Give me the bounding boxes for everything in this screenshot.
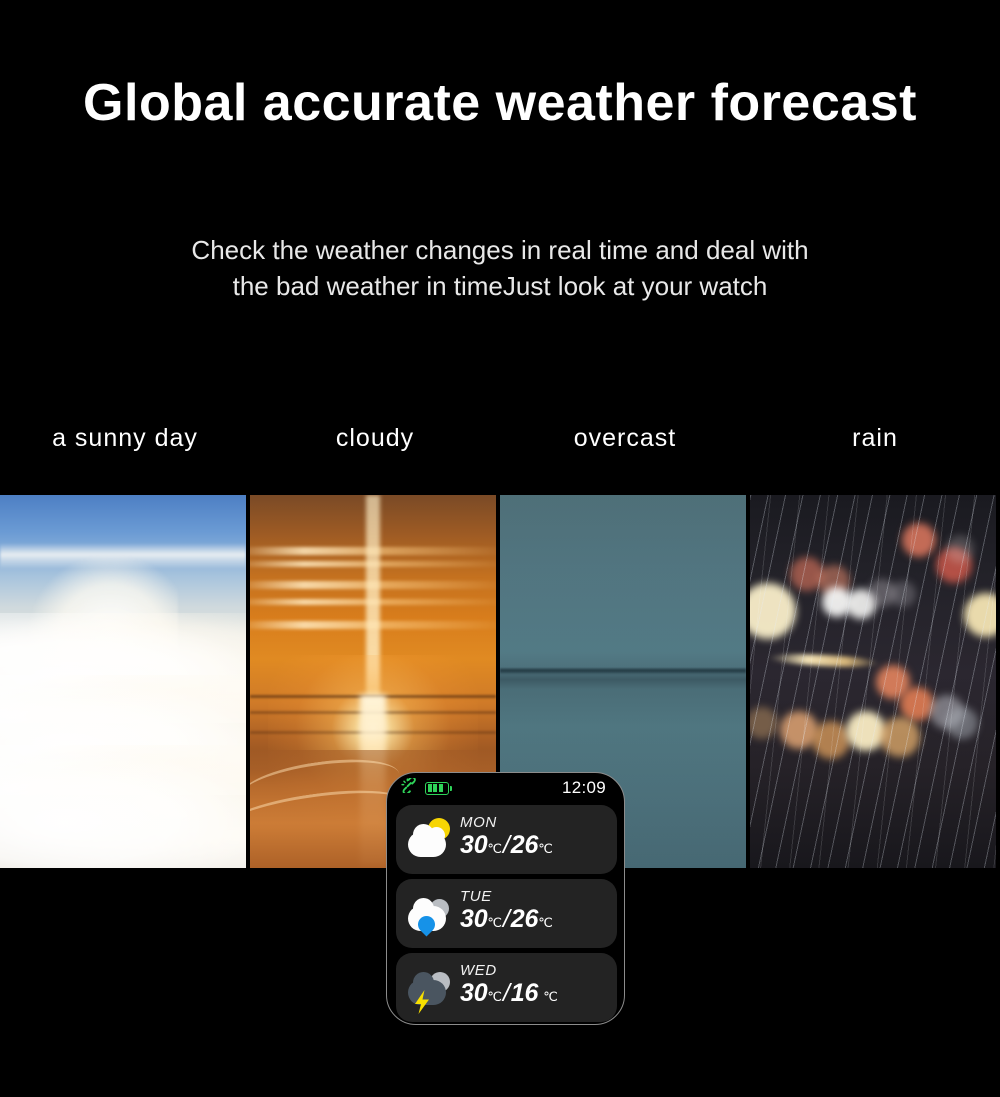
broken-link-icon [401,778,418,798]
temp-high: 30 [460,831,487,859]
page-title: Global accurate weather forecast [0,72,1000,134]
temp-separator: / [502,831,511,859]
forecast-card-list: MON 30℃/26℃ TUE 30℃/26℃ [396,805,617,1025]
weather-photo-rain [750,495,996,868]
forecast-day-label: WED [460,962,558,979]
temp-high-unit: ℃ [487,915,502,930]
weather-label-rain: rain [750,418,1000,458]
temp-low-unit: ℃ [538,841,553,856]
forecast-temperature: 30℃/26℃ [460,905,553,937]
forecast-card-tue[interactable]: TUE 30℃/26℃ [396,879,617,948]
watch-status-bar: 12:09 [387,773,624,803]
weather-category-labels: a sunny day cloudy overcast rain [0,418,1000,458]
page-subtitle: Check the weather changes in real time a… [0,232,1000,304]
sun-behind-cloud-icon [404,814,456,866]
thunderstorm-cloud-icon [404,962,456,1014]
temp-low-unit: ℃ [538,915,553,930]
temp-high: 30 [460,979,487,1007]
temp-high-unit: ℃ [487,989,502,1004]
subtitle-line-1: Check the weather changes in real time a… [0,232,1000,268]
forecast-day-label: TUE [460,888,553,905]
forecast-card-wed[interactable]: WED 30℃/16℃ [396,953,617,1022]
temp-low: 16 [511,979,538,1007]
temp-low-unit: ℃ [543,989,558,1004]
temp-separator: / [502,905,511,933]
temp-low: 26 [511,905,538,933]
weather-label-sunny: a sunny day [0,418,250,458]
watch-clock: 12:09 [562,778,610,798]
forecast-temperature: 30℃/26℃ [460,831,553,863]
weather-label-overcast: overcast [500,418,750,458]
subtitle-line-2: the bad weather in timeJust look at your… [0,268,1000,304]
cloud-with-rain-drop-icon [404,888,456,940]
temp-separator: / [502,979,511,1007]
forecast-temperature: 30℃/16℃ [460,979,558,1011]
status-icon-group [401,778,449,798]
weather-promo-page: Global accurate weather forecast Check t… [0,0,1000,1097]
forecast-day-label: MON [460,814,553,831]
weather-label-cloudy: cloudy [250,418,500,458]
smartwatch-weather-widget[interactable]: 12:09 MON 30℃/26℃ [386,772,625,1025]
temp-high: 30 [460,905,487,933]
forecast-card-mon[interactable]: MON 30℃/26℃ [396,805,617,874]
battery-icon [425,782,449,795]
weather-photo-sunny [0,495,246,868]
temp-low: 26 [511,831,538,859]
temp-high-unit: ℃ [487,841,502,856]
